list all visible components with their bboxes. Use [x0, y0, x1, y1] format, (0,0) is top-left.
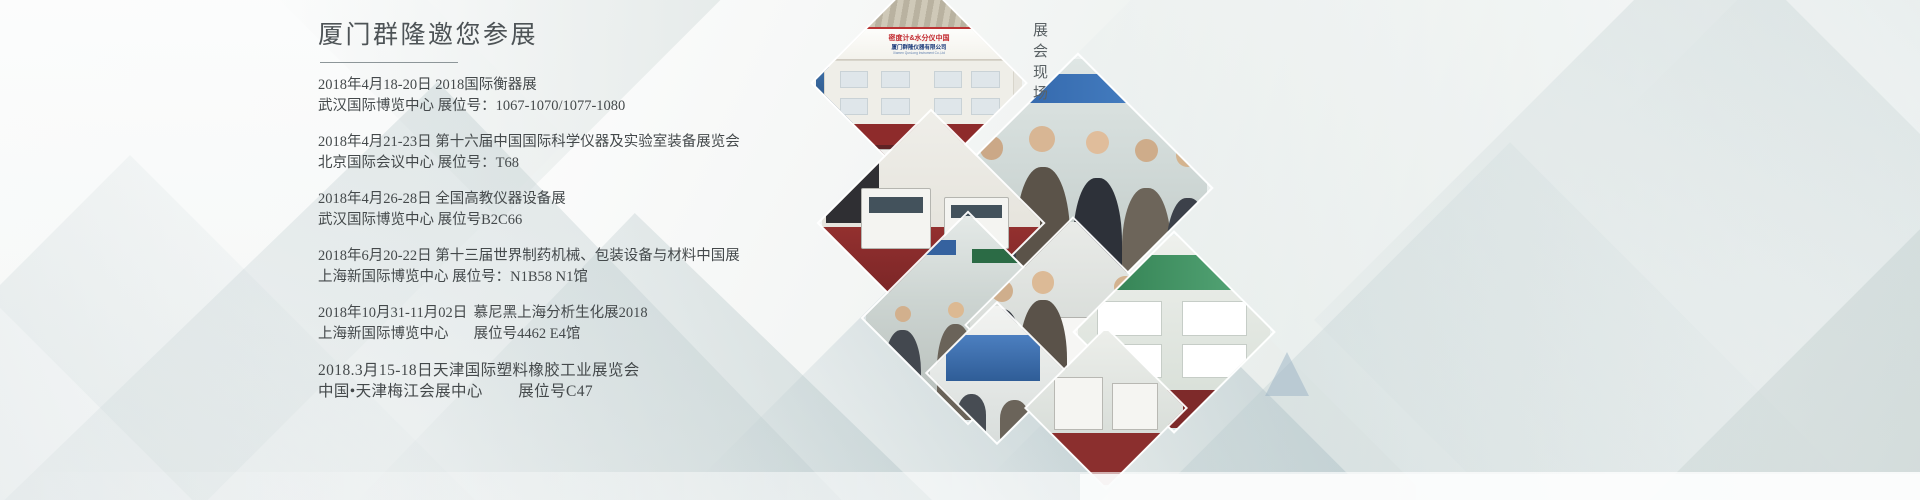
event-title: 2018国际衡器展 — [435, 75, 537, 96]
title-underline — [320, 62, 458, 63]
ceiling-truss — [816, 0, 1022, 29]
event-row-secondary: 武汉国际博览中心 展位号：1067-1070/1077-1080 — [318, 96, 838, 117]
display-shelf — [1182, 344, 1247, 379]
event-entry: 2018年4月18-20日 2018国际衡器展 武汉国际博览中心 展位号：106… — [318, 75, 838, 117]
background-facet — [1314, 0, 1920, 500]
product-graphic — [881, 98, 909, 115]
decorative-triangle — [1265, 352, 1309, 396]
event-row-primary: 2018年6月20-22日 第十三届世界制药机械、包装设备与材料中国展 — [318, 246, 838, 267]
person-head — [980, 136, 1003, 159]
product-graphic — [840, 71, 868, 88]
event-entry: 2018年4月21-23日 第十六届中国国际科学仪器及实验室装备展览会 北京国际… — [318, 132, 838, 174]
event-date: 2018年4月26-28日 — [318, 189, 432, 210]
event-row-secondary: 北京国际会议中心 展位号：T68 — [318, 153, 838, 174]
sign-line-2: 厦门群隆仪器有限公司 — [891, 43, 946, 51]
page-title: 厦门群隆邀您参展 — [318, 20, 838, 53]
person-head — [948, 302, 964, 318]
event-row-primary: 2018.3月15-18日天津国际塑料橡胶工业展览会 — [318, 360, 838, 381]
event-entry: 2018年10月31-11月02日 慕尼黑上海分析生化展2018 上海新国际博览… — [318, 303, 838, 345]
event-title: 第十六届中国国际科学仪器及实验室装备展览会 — [435, 132, 740, 153]
person-head — [1176, 144, 1199, 167]
event-entry: 2018.3月15-18日天津国际塑料橡胶工业展览会 中国•天津梅江会展中心 展… — [318, 360, 838, 402]
product-wall — [824, 60, 1014, 128]
event-booth: 展位号C47 — [518, 381, 593, 402]
event-row-secondary: 武汉国际博览中心 展位号B2C66 — [318, 210, 838, 231]
event-venue: 上海新国际博览中心 — [318, 267, 449, 288]
person-body — [884, 330, 921, 420]
event-venue: 北京国际会议中心 — [318, 153, 434, 174]
background-facet — [1617, 0, 1920, 403]
product-graphic — [934, 71, 962, 88]
event-date: 2018年4月21-23日 — [318, 132, 432, 153]
event-entry: 2018年6月20-22日 第十三届世界制药机械、包装设备与材料中国展 上海新国… — [318, 246, 838, 288]
product-graphic — [971, 98, 999, 115]
booth-sign: 密度计&水分仪中国 厦门群隆仪器有限公司 Xiamen QunLong Inst… — [824, 27, 1014, 60]
event-booth: 展位号：N1B58 N1馆 — [452, 267, 588, 288]
event-booth: 展位号4462 E4馆 — [474, 324, 581, 345]
event-row-primary: 2018年4月21-23日 第十六届中国国际科学仪器及实验室装备展览会 — [318, 132, 838, 153]
person-head — [1135, 139, 1158, 162]
event-venue: 武汉国际博览中心 — [318, 210, 434, 231]
instrument-unit — [1112, 383, 1158, 429]
product-graphic — [840, 98, 868, 115]
event-booth: 展位号：1067-1070/1077-1080 — [438, 96, 626, 117]
person-head — [895, 306, 911, 322]
event-date: 2018年4月18-20日 — [318, 75, 432, 96]
instrument-unit — [861, 188, 931, 249]
product-graphic — [881, 71, 909, 88]
event-title: 第十三届世界制药机械、包装设备与材料中国展 — [435, 246, 740, 267]
event-title: 全国高教仪器设备展 — [435, 189, 566, 210]
event-date: 2018年6月20-22日 — [318, 246, 432, 267]
display-shelf — [1182, 301, 1247, 336]
event-date: 2018年10月31-11月02日 — [318, 303, 470, 324]
event-title: 慕尼黑上海分析生化展2018 — [474, 303, 648, 324]
bottom-white-strip — [1080, 474, 1920, 500]
instrument-display — [951, 205, 1002, 218]
event-row-primary: 2018年4月26-28日 全国高教仪器设备展 — [318, 189, 838, 210]
event-row-primary: 2018年10月31-11月02日 慕尼黑上海分析生化展2018 — [318, 303, 838, 324]
event-venue: 中国•天津梅江会展中心 — [318, 381, 514, 402]
event-booth: 展位号B2C66 — [438, 210, 523, 231]
event-booth: 展位号：T68 — [438, 153, 519, 174]
person-head — [1086, 131, 1109, 154]
event-row-secondary: 中国•天津梅江会展中心 展位号C47 — [318, 381, 838, 402]
person-head — [1029, 126, 1055, 152]
event-date: 2018.3月15-18日天津国际塑料橡胶工业展览会 — [318, 360, 640, 381]
collage-caption: 展会现场 — [1022, 22, 1048, 106]
instrument-display — [869, 197, 923, 212]
instrument-unit — [1054, 377, 1103, 429]
event-venue: 武汉国际博览中心 — [318, 96, 434, 117]
product-graphic — [934, 98, 962, 115]
event-row-secondary: 上海新国际博览中心 展位号4462 E4馆 — [318, 324, 838, 345]
sign-line-1: 密度计&水分仪中国 — [888, 33, 949, 43]
sign-line-3: Xiamen QunLong Instrument Co.,Ltd — [893, 51, 945, 55]
event-row-secondary: 上海新国际博览中心 展位号：N1B58 N1馆 — [318, 267, 838, 288]
balance-device — [837, 149, 864, 170]
event-entry: 2018年4月26-28日 全国高教仪器设备展 武汉国际博览中心 展位号B2C6… — [318, 189, 838, 231]
exhibition-banner: 厦门群隆邀您参展 2018年4月18-20日 2018国际衡器展 武汉国际博览中… — [0, 0, 1920, 500]
person-body — [957, 394, 986, 440]
person-body — [1000, 400, 1029, 440]
blue-backdrop — [946, 335, 1040, 381]
person-head — [1032, 271, 1055, 294]
event-venue: 上海新国际博览中心 — [318, 324, 470, 345]
product-graphic — [971, 71, 999, 88]
schedule-panel: 厦门群隆邀您参展 2018年4月18-20日 2018国际衡器展 武汉国际博览中… — [318, 20, 838, 417]
event-row-primary: 2018年4月18-20日 2018国际衡器展 — [318, 75, 838, 96]
